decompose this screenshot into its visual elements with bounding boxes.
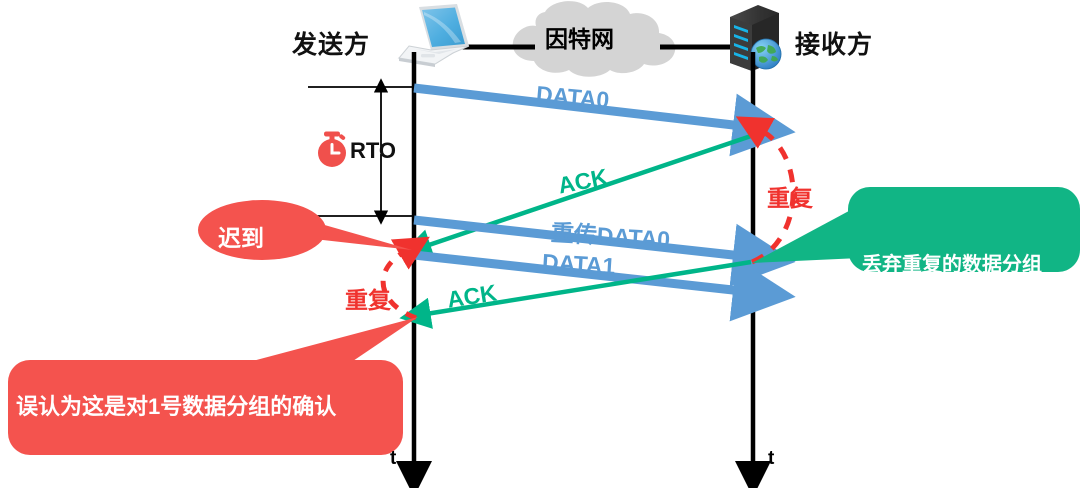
label-data1: DATA1: [541, 249, 616, 280]
duplicate-label-right: 重复: [767, 179, 813, 213]
rto-label: RTO: [350, 138, 396, 164]
duplicate-label-left: 重复: [345, 281, 391, 315]
sender-label: 发送方: [292, 25, 370, 61]
receiver-callout-line2: 再发送一个确认分组: [862, 330, 1042, 356]
laptop-icon: [399, 4, 469, 67]
label-retransmit-data0: 重传DATA0: [550, 213, 671, 254]
server-globe-icon: [730, 5, 781, 71]
diagram-canvas: 发送方 接收方 因特网 t t RTO DATA0 ACK 重传DATA0 DA…: [0, 0, 1091, 488]
receiver-axis-label: t: [768, 448, 774, 470]
sender-callout[interactable]: [8, 317, 418, 455]
late-callout-text: 迟到: [218, 219, 264, 253]
sender-callout-text: 误认为这是对1号数据分组的确认: [16, 389, 336, 421]
receiver-callout-line1: 丢弃重复的数据分组: [862, 252, 1042, 278]
sender-axis-label: t: [390, 448, 396, 470]
stopwatch-icon: [318, 132, 346, 168]
cloud-label: 因特网: [545, 20, 614, 54]
receiver-label: 接收方: [795, 25, 873, 61]
receiver-callout-text: 丢弃重复的数据分组 再发送一个确认分组: [862, 200, 1042, 408]
